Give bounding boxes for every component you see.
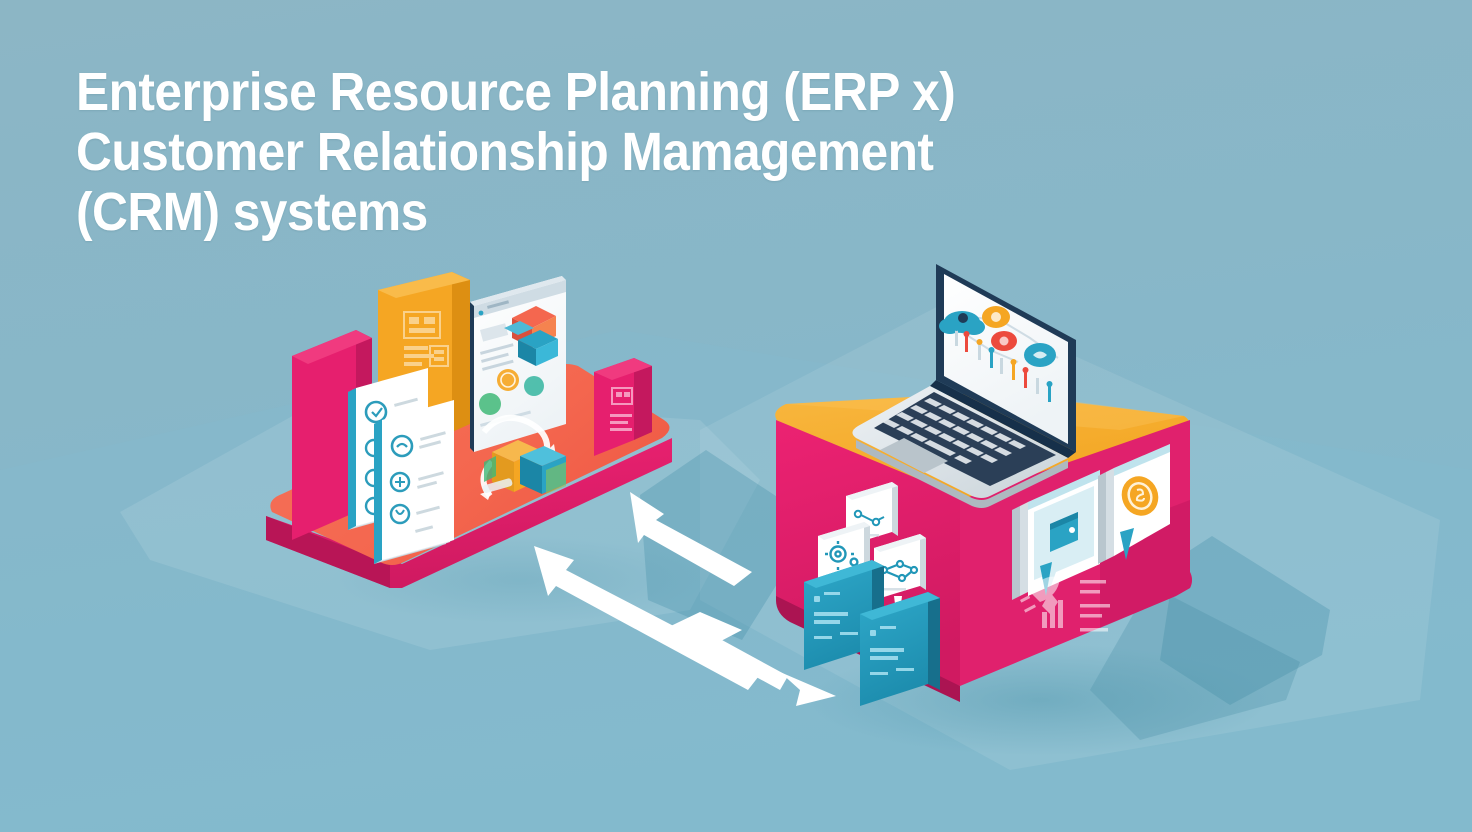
leaf-icon: [479, 393, 501, 415]
truck-icon: [524, 376, 544, 396]
erp-document-stack-front: [374, 400, 454, 564]
isometric-scene: [0, 0, 1472, 832]
red-badge-icon: [991, 331, 1017, 351]
erp-browser-window: [470, 276, 566, 452]
teal-badge-icon: [1024, 343, 1056, 367]
orange-badge-icon: [982, 306, 1010, 328]
illustration-canvas: Enterprise Resource Planning (ERP x) Cus…: [0, 0, 1472, 832]
